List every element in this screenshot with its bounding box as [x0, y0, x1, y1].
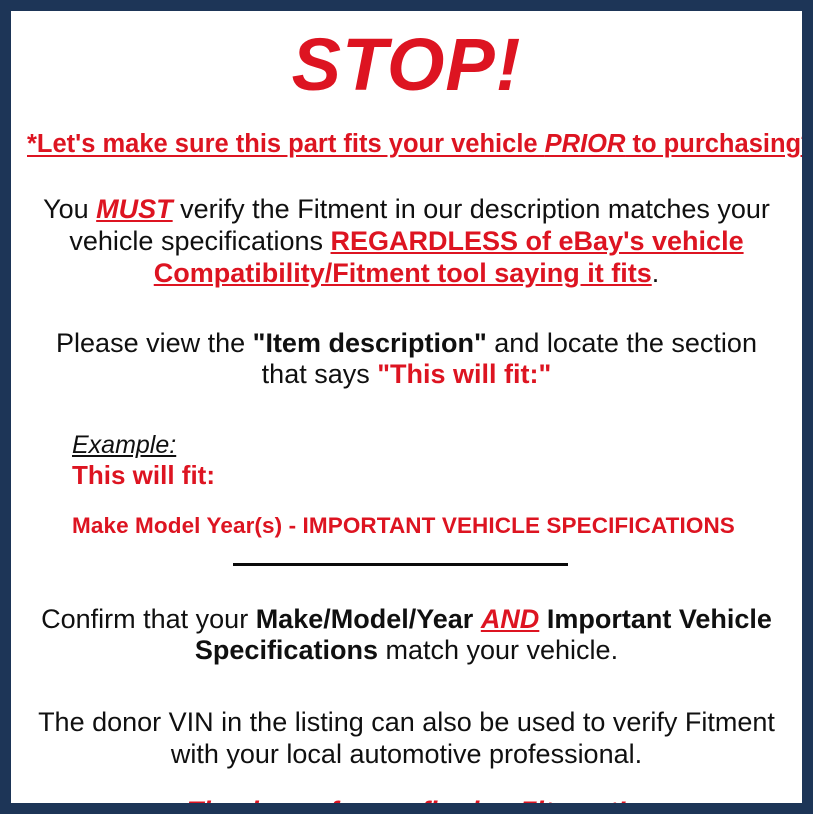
make-model-year-emphasis: Make/Model/Year	[256, 604, 474, 634]
fitment-notice-card: STOP! *Let's make sure this part fits yo…	[0, 0, 813, 814]
confirm-part-4: match your vehicle.	[378, 635, 618, 665]
must-part-3: .	[652, 258, 660, 288]
must-emphasis: MUST	[96, 194, 173, 224]
example-label-row: Example:	[72, 431, 788, 459]
subtitle-tail-text: to purchasing*	[625, 130, 811, 158]
paragraph-item-description: Please view the "Item description" and l…	[25, 328, 788, 392]
divider-wrapper	[25, 563, 788, 566]
section-divider	[233, 563, 568, 566]
example-block: Example: This will fit: Make Model Year(…	[25, 431, 788, 539]
subtitle-lead-text: *Let's make sure this part fits your veh…	[27, 130, 545, 158]
must-part-1: You	[43, 194, 96, 224]
subtitle-emphasis-prior: PRIOR	[545, 130, 626, 158]
confirm-part-3	[539, 604, 547, 634]
confirm-part-1: Confirm that your	[41, 604, 256, 634]
page-title: STOP!	[25, 28, 788, 102]
example-label: Example:	[72, 431, 176, 459]
paragraph-confirm-match: Confirm that your Make/Model/Year AND Im…	[25, 604, 788, 668]
this-will-fit-emphasis: "This will fit:"	[377, 359, 551, 389]
example-spec-line: Make Model Year(s) - IMPORTANT VEHICLE S…	[72, 513, 788, 540]
paragraph-donor-vin: The donor VIN in the listing can also be…	[25, 707, 788, 771]
item-description-emphasis: "Item description"	[253, 328, 487, 358]
subtitle-banner: *Let's make sure this part fits your veh…	[25, 130, 788, 160]
confirm-part-2	[473, 604, 481, 634]
paragraph-must-verify: You MUST verify the Fitment in our descr…	[25, 194, 788, 290]
thank-you-message: Thank you for confirming Fitment!	[25, 795, 788, 814]
example-fit-heading: This will fit:	[72, 460, 788, 491]
and-emphasis: AND	[481, 604, 540, 634]
view-part-1: Please view the	[56, 328, 253, 358]
